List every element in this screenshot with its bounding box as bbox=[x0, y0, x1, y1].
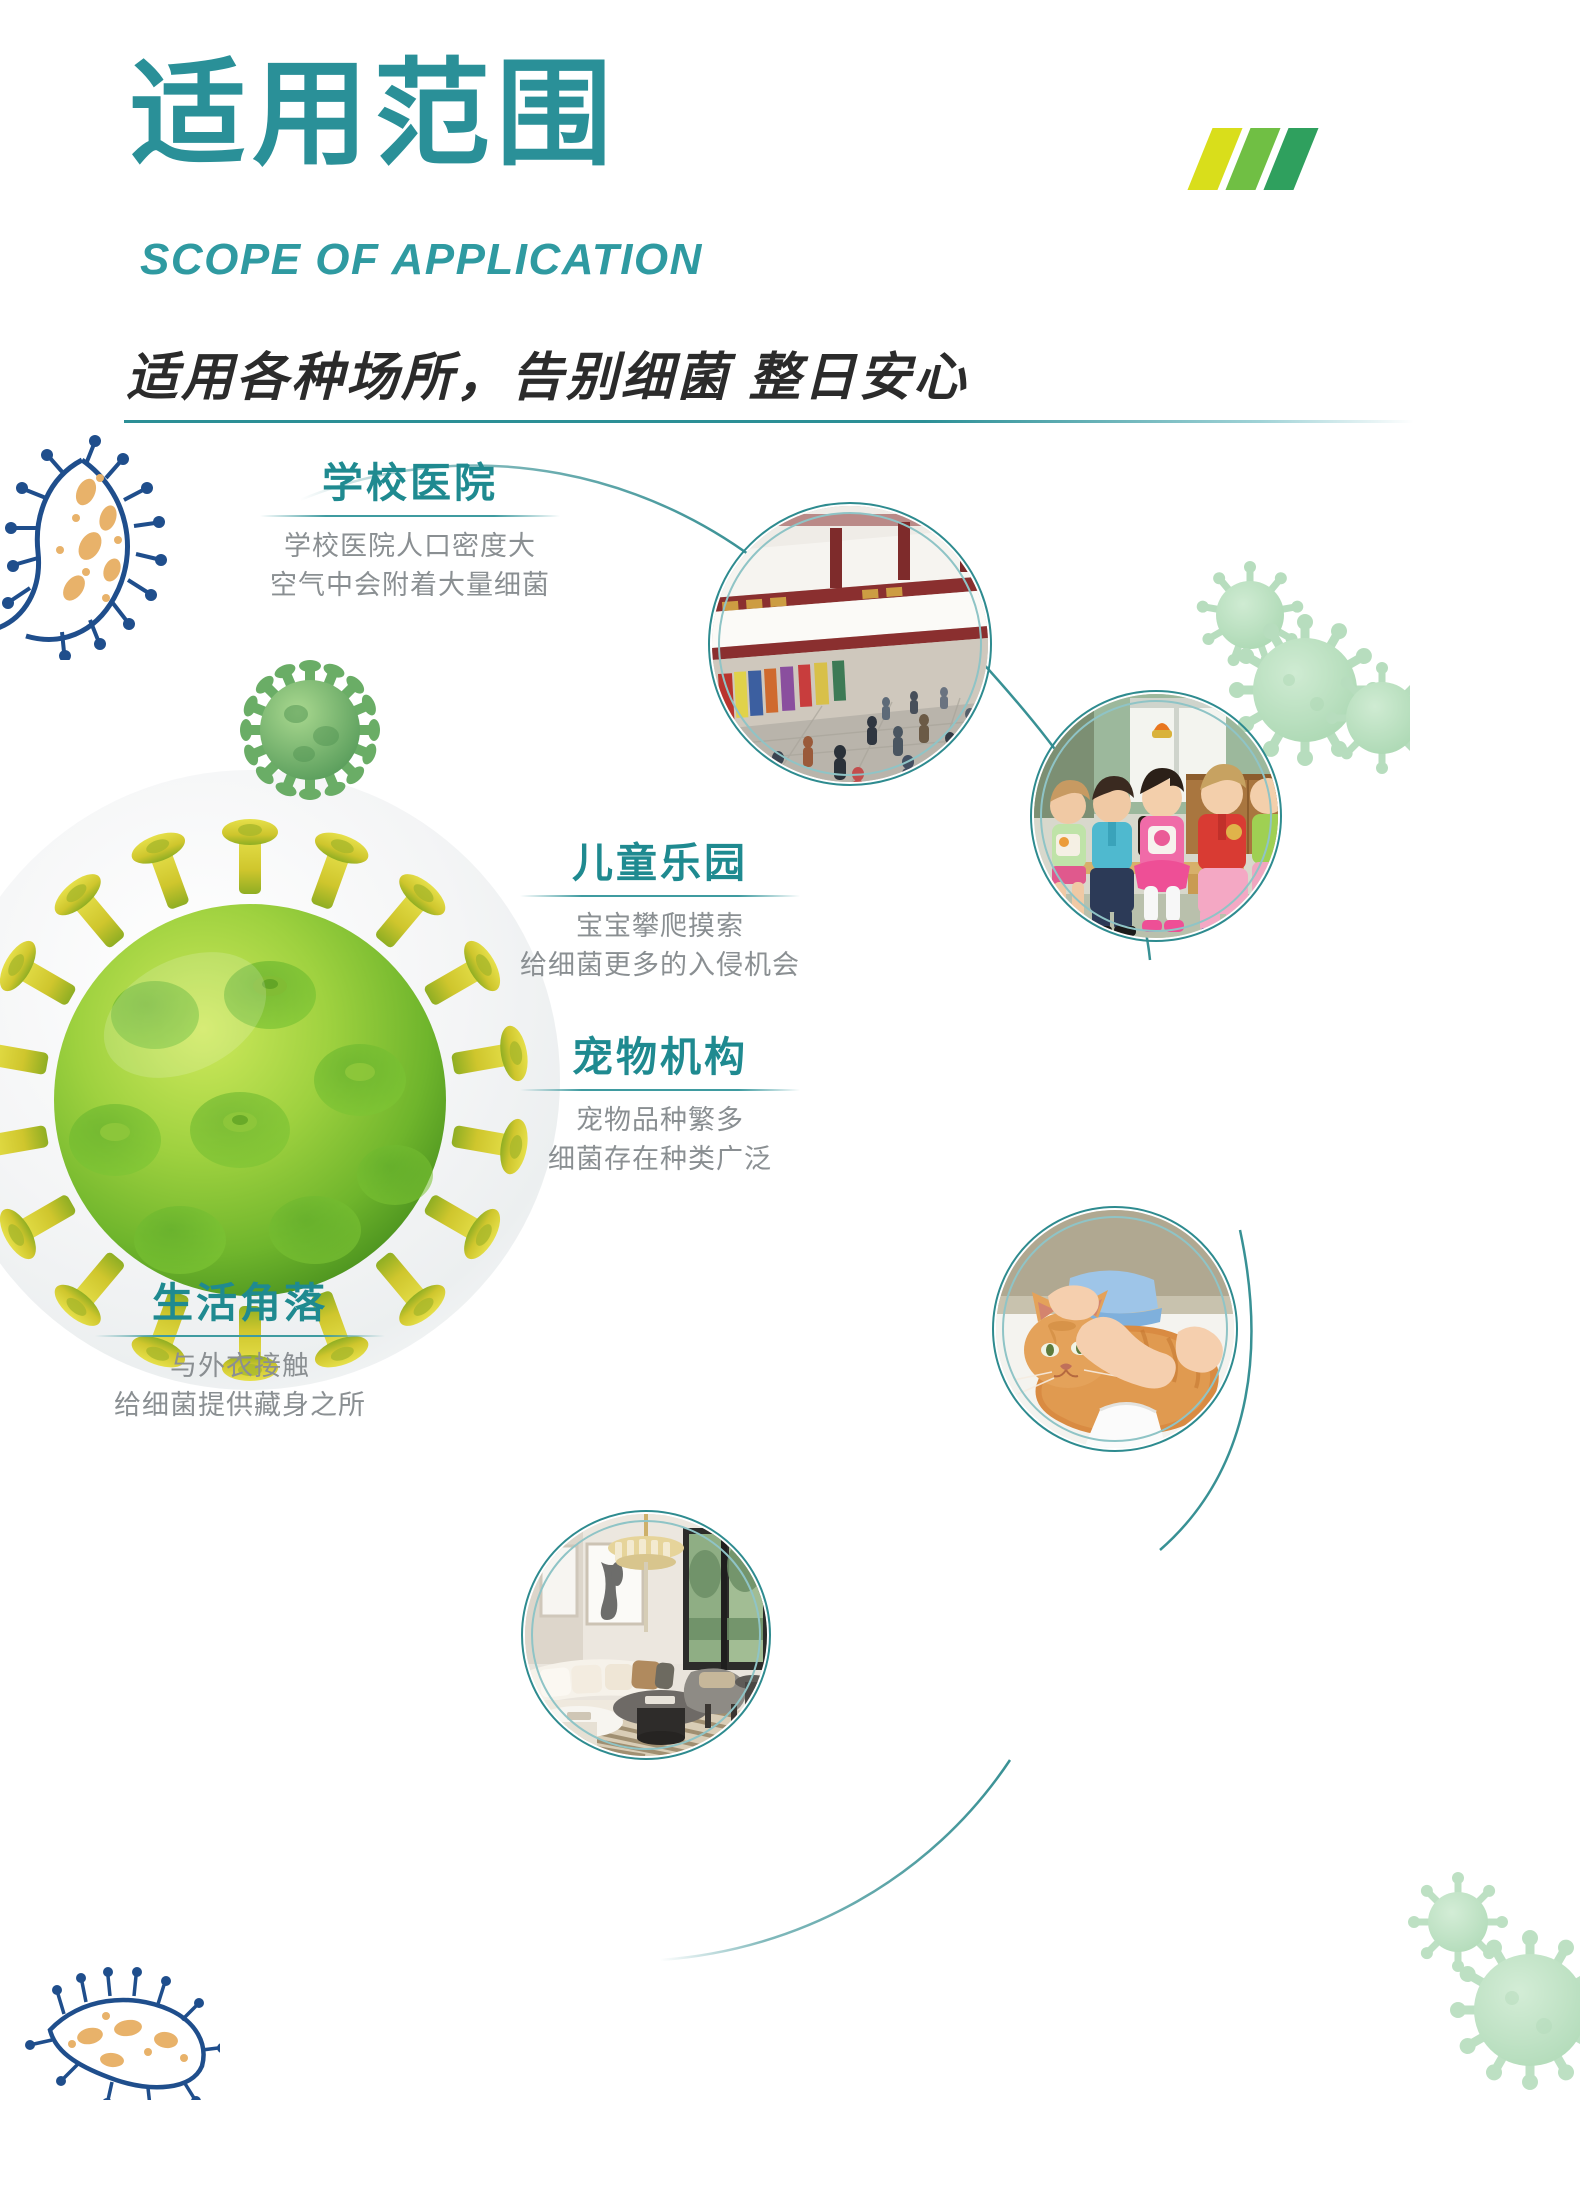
photo-circle-living-corner[interactable] bbox=[521, 1510, 771, 1760]
block-desc-line2: 给细菌更多的入侵机会 bbox=[480, 946, 840, 985]
block-divider bbox=[520, 895, 800, 897]
virus-green-cluster-bottomright-icon bbox=[1400, 1860, 1580, 2110]
block-divider bbox=[260, 515, 560, 517]
page-header: 适用范围 SCOPE OF APPLICATION 适用各种场所，告别细菌 整日… bbox=[0, 0, 1580, 440]
block-title: 儿童乐园 bbox=[480, 838, 840, 889]
photo-ring-inner bbox=[1040, 700, 1272, 932]
page-title: 适用范围 bbox=[130, 52, 618, 177]
photo-circle-pet-institution[interactable] bbox=[992, 1206, 1238, 1452]
virus-accent-small-icon bbox=[230, 650, 390, 810]
subtitle-divider bbox=[124, 420, 1414, 423]
block-divider bbox=[520, 1089, 800, 1091]
block-title: 学校医院 bbox=[230, 458, 590, 509]
scope-diagram: 学校医院 学校医院人口密度大 空气中会附着大量细菌 儿童乐园 宝宝攀爬摸索 给细… bbox=[0, 440, 1580, 2191]
photo-ring-inner bbox=[1002, 1216, 1228, 1442]
block-childrens-playground: 儿童乐园 宝宝攀爬摸索 给细菌更多的入侵机会 bbox=[480, 838, 840, 986]
block-school-hospital: 学校医院 学校医院人口密度大 空气中会附着大量细菌 bbox=[230, 458, 590, 606]
block-desc-line2: 空气中会附着大量细菌 bbox=[230, 566, 590, 605]
block-living-corner: 生活角落 与外衣接触 给细菌提供藏身之所 bbox=[40, 1278, 440, 1426]
bacteria-navy-bottomleft-icon bbox=[20, 1940, 220, 2100]
block-divider bbox=[95, 1335, 385, 1337]
block-desc-line1: 宝宝攀爬摸索 bbox=[480, 907, 840, 946]
page-subtitle: 适用各种场所，告别细菌 整日安心 bbox=[126, 335, 968, 410]
block-title: 宠物机构 bbox=[480, 1032, 840, 1083]
photo-circle-childrens-playground[interactable] bbox=[1030, 690, 1282, 942]
brand-logo-icon bbox=[1200, 128, 1330, 190]
block-desc-line1: 学校医院人口密度大 bbox=[230, 527, 590, 566]
block-desc-line1: 宠物品种繁多 bbox=[480, 1101, 840, 1140]
block-title: 生活角落 bbox=[40, 1278, 440, 1329]
block-pet-institution: 宠物机构 宠物品种繁多 细菌存在种类广泛 bbox=[480, 1032, 840, 1180]
photo-circle-school-hospital[interactable] bbox=[708, 502, 992, 786]
block-desc-line2: 给细菌提供藏身之所 bbox=[40, 1386, 440, 1425]
photo-ring-inner bbox=[531, 1520, 761, 1750]
photo-ring-inner bbox=[718, 512, 982, 776]
page-title-english: SCOPE OF APPLICATION bbox=[140, 235, 703, 285]
block-desc-line1: 与外衣接触 bbox=[40, 1347, 440, 1386]
block-desc-line2: 细菌存在种类广泛 bbox=[480, 1140, 840, 1179]
bacteria-navy-topleft-icon bbox=[0, 430, 240, 660]
